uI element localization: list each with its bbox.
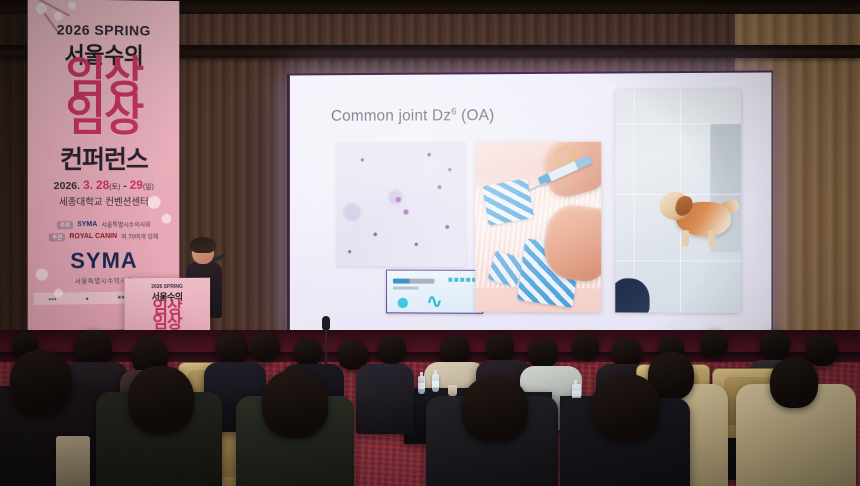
carpet-floor <box>0 362 860 486</box>
banner-date-day1-dow: (토) <box>109 184 120 191</box>
banner-date-day1: 28 <box>96 178 109 192</box>
software-logo-bar <box>393 279 435 284</box>
banner-date-month: 3. <box>83 178 93 192</box>
banner-date-line: 2026. 3. 28(토) - 29(일) <box>28 178 180 192</box>
podium-headline-2: 임상 <box>125 315 211 330</box>
sponsor-tag-host: 주최 <box>57 221 73 229</box>
banner-year-line: 2026 SPRING <box>28 21 180 39</box>
banner-sponsor-row-2: 주관 ROYAL CANIN 외 70여개 업체 <box>28 232 180 242</box>
slide-image-software: ∿ <box>386 270 483 314</box>
slide-title-suffix: (OA) <box>457 107 495 124</box>
dog-leg <box>708 230 715 246</box>
banner-line-ko-2: 컨퍼런스 <box>28 140 180 176</box>
syma-logo-text: SYMA <box>28 247 180 274</box>
sponsor-sub-others: 외 70여개 업체 <box>121 232 158 241</box>
software-indicator-dots <box>448 278 476 282</box>
person-shoe <box>615 278 649 313</box>
dog-leg <box>682 230 689 246</box>
slide-title-prefix: Common joint Dz <box>331 108 451 125</box>
speaker-hair <box>190 237 216 253</box>
banner-sponsor-row-1: 주최 SYMA 서울특별시수의사회 <box>28 220 180 230</box>
slide-image-cytology <box>337 142 465 267</box>
strip-logo: ●●● <box>48 296 56 301</box>
sponsor-name-royalcanin: ROYAL CANIN <box>69 233 117 240</box>
blossom-petal <box>54 11 63 20</box>
banner-date-day2: 29 <box>130 178 143 192</box>
strip-logo: ■ <box>86 296 89 301</box>
projection-screen: Common joint Dz6 (OA) ∿ <box>287 70 773 345</box>
blossom-petal <box>68 1 76 9</box>
blossom-petal <box>36 3 47 14</box>
banner-date-prefix: 2026. <box>54 180 80 192</box>
banner-date-separator: - <box>123 180 126 192</box>
software-swirl-icon: ∿ <box>427 293 440 312</box>
slide-image-dog <box>615 89 741 313</box>
banner-venue: 세종대학교 컨벤션센터 <box>28 194 180 208</box>
banner-date-day2-dow: (일) <box>143 184 154 191</box>
software-circle-icon <box>395 296 411 309</box>
banner-headline-2: 임상 <box>28 96 180 137</box>
sponsor-sub-syma: 서울특별시수의사회 <box>101 220 150 229</box>
sponsor-name-syma: SYMA <box>77 221 97 228</box>
microphone-stand <box>325 330 327 470</box>
conference-photo: Common joint Dz6 (OA) ∿ <box>0 0 860 486</box>
slide-image-procedure <box>475 142 601 313</box>
surgical-drape <box>482 178 534 225</box>
slide-title: Common joint Dz6 (OA) <box>331 106 494 126</box>
software-subtitle-bar <box>393 287 419 290</box>
microphone-icon <box>322 316 330 331</box>
sponsor-tag-organizer: 주관 <box>49 233 65 241</box>
floor-bag <box>298 436 320 470</box>
